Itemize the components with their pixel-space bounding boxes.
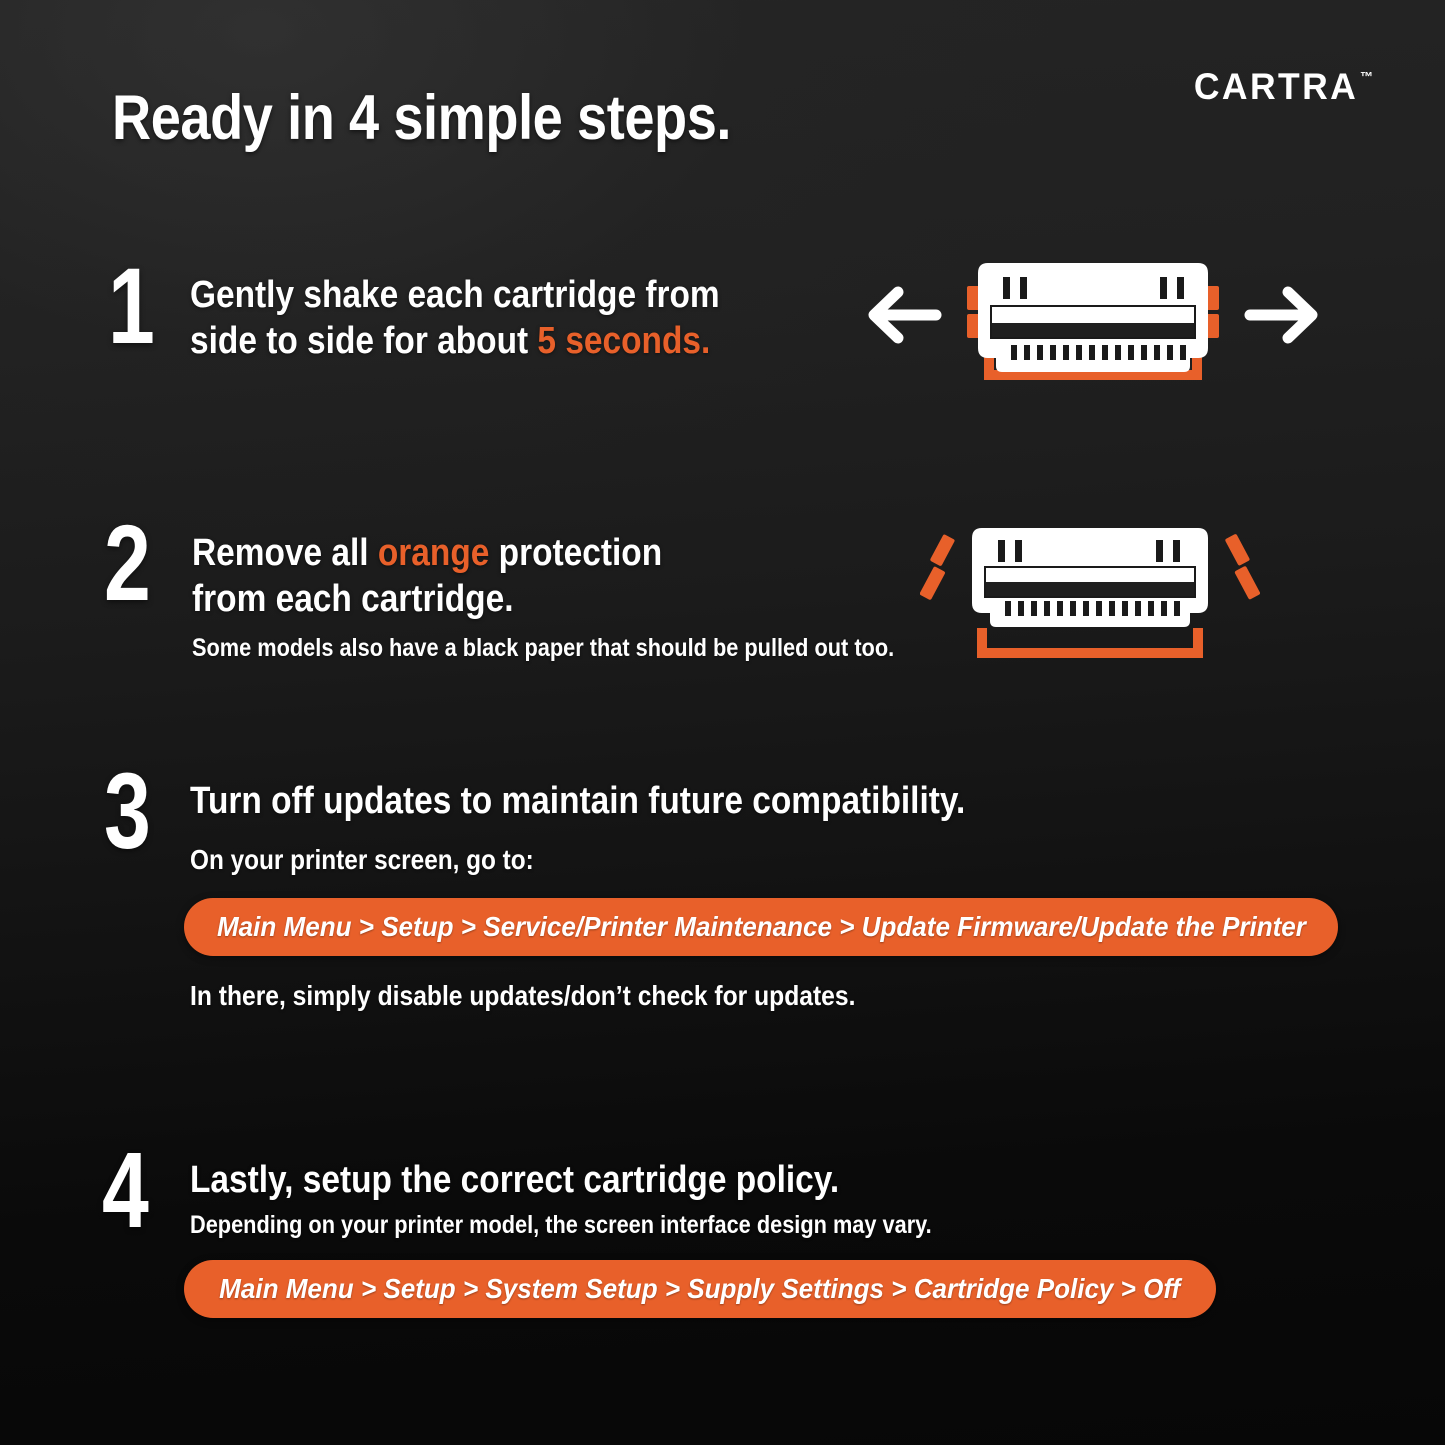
step-4-subtext: Depending on your printer model, the scr… [190,1210,932,1241]
page-title: Ready in 4 simple steps. [112,87,731,150]
step-1-heading-text-1: Gently shake each cartridge from [190,274,720,316]
arrow-left-icon [874,292,936,338]
infographic-page: Ready in 4 simple steps. CARTRA ™ 1 Gent… [0,0,1445,1445]
orange-fragment-right-top [1225,533,1251,566]
step-2-heading-text-1b: protection [489,532,662,574]
step-3-subtext: On your printer screen, go to: [190,842,957,877]
orange-fragment-left-top [930,534,956,567]
trademark-symbol: ™ [1360,70,1373,83]
step-2-subtext: Some models also have a black paper that… [192,633,894,664]
orange-fragment-right-bottom [1234,566,1260,600]
step-1-heading-text-2: side to side for about [190,320,537,362]
step-2-number: 2 [104,519,149,608]
cartridge-body [978,263,1208,372]
brand-logo-wordmark: CARTRA [1194,68,1358,105]
printer-menu-path-pill-cartridge-policy[interactable]: Main Menu > Setup > System Setup > Suppl… [184,1260,1216,1318]
step-4-heading-text: Lastly, setup the correct cartridge poli… [190,1159,839,1201]
step-1-number: 1 [108,262,153,351]
cartridge-remove-protection-icon [920,515,1260,675]
cartridge-shake-icon [868,240,1318,395]
cartridge-body [972,528,1208,627]
brand-logo: CARTRA ™ [1187,68,1373,105]
printer-menu-path-text-cartridge-policy: Main Menu > Setup > System Setup > Suppl… [219,1273,1180,1305]
step-4-body: Lastly, setup the correct cartridge poli… [190,1157,1043,1242]
orange-fragment-left-group [920,534,955,600]
step-3-heading-text: Turn off updates to maintain future comp… [190,780,965,822]
step-4-number: 4 [102,1146,147,1235]
step-2-body: Remove all orange protection from each c… [192,530,999,664]
step-4-heading: Lastly, setup the correct cartridge poli… [190,1157,940,1203]
step-1-heading-line-1: Gently shake each cartridge from [190,272,720,318]
step-2-heading-text-2: from each cartridge. [192,578,514,620]
step-2-heading-text-1: Remove all [192,532,378,574]
orange-fragment-right-group [1225,533,1260,599]
printer-menu-path-text-updates: Main Menu > Setup > Service/Printer Main… [217,911,1306,943]
step-1-highlight-duration: 5 seconds. [537,320,710,362]
orange-fragment-left-bottom [920,566,946,600]
step-2-heading-line-2: from each cartridge. [192,576,902,622]
step-3-note: In there, simply disable updates/don’t c… [190,978,855,1013]
step-3-body: Turn off updates to maintain future comp… [190,778,1071,877]
step-2-highlight-orange: orange [378,532,489,574]
arrow-right-icon [1250,292,1312,338]
step-1-body: Gently shake each cartridge from side to… [190,272,792,365]
step-1-heading-line-2: side to side for about 5 seconds. [190,318,720,364]
step-3-number: 3 [104,767,149,856]
orange-detached-bracket [982,628,1198,653]
step-3-heading: Turn off updates to maintain future comp… [190,778,965,824]
printer-menu-path-pill-updates[interactable]: Main Menu > Setup > Service/Printer Main… [184,898,1338,956]
step-2-heading-line-1: Remove all orange protection [192,530,902,576]
